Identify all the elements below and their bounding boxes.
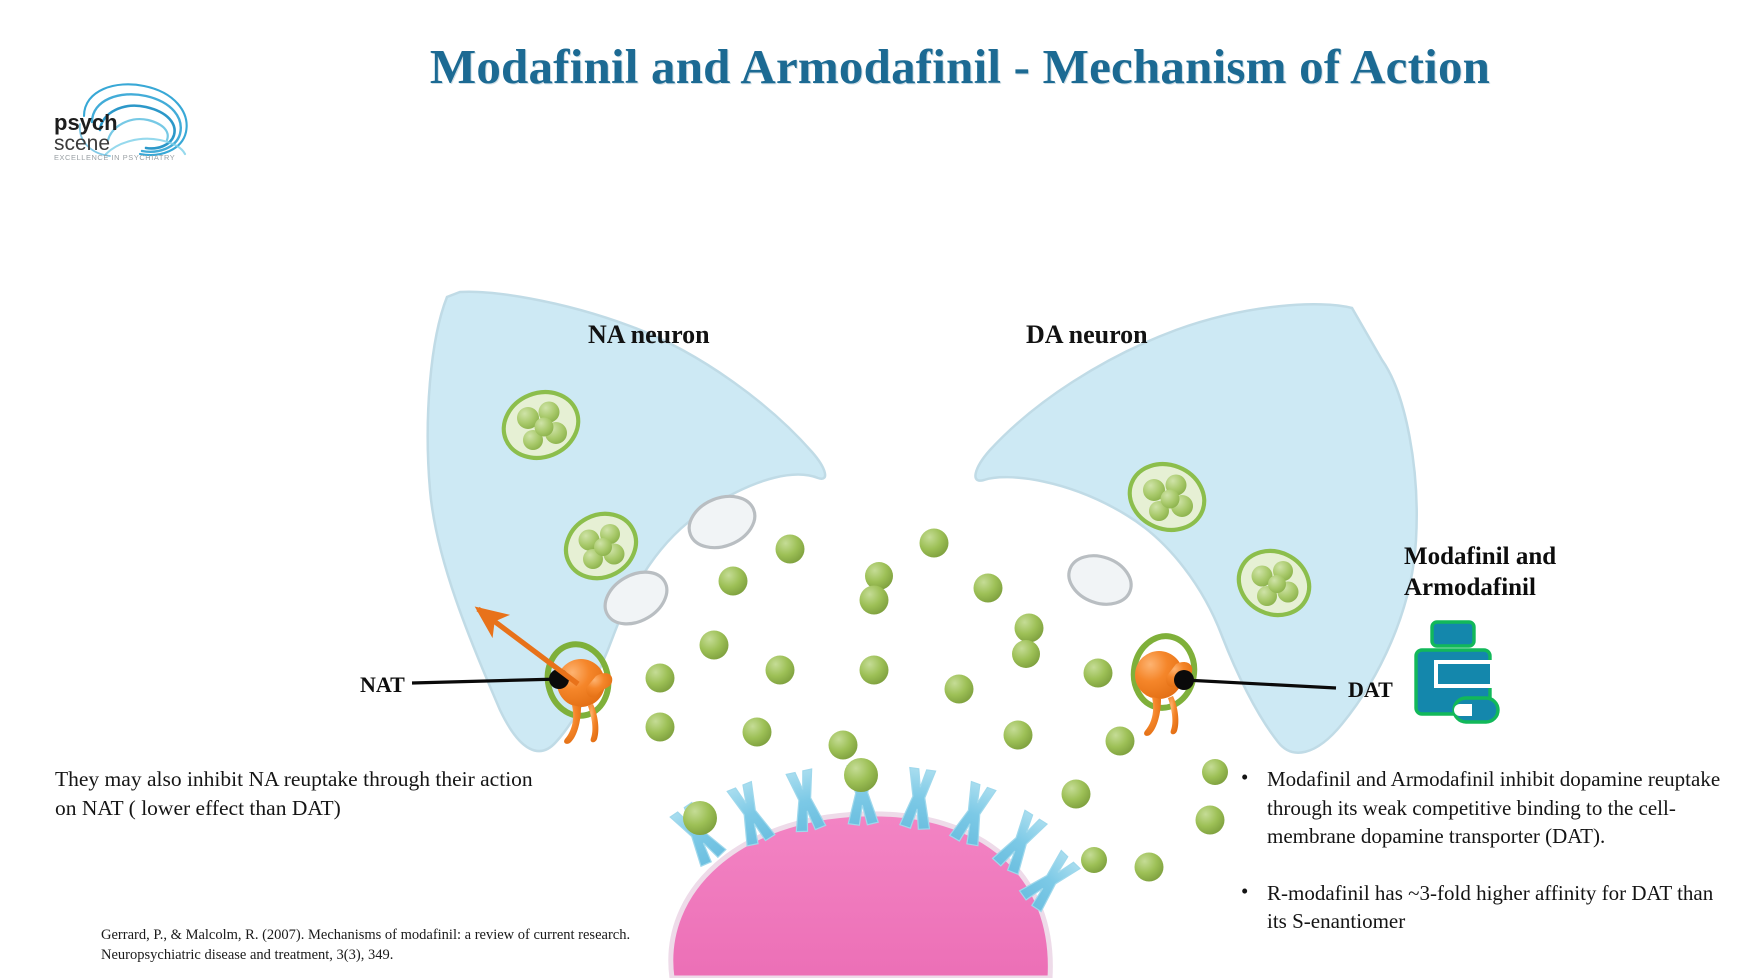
postsynaptic-cell: [669, 758, 1082, 978]
drug-heading-line2: Armodafinil: [1404, 573, 1664, 604]
bullet-list: Modafinil and Armodafinil inhibit dopami…: [1233, 765, 1738, 964]
left-note-text: They may also inhibit NA reuptake throug…: [55, 765, 555, 823]
drug-panel-heading: Modafinil and Armodafinil: [1404, 542, 1664, 603]
neurotransmitter-molecule: [683, 801, 717, 835]
list-item: Modafinil and Armodafinil inhibit dopami…: [1233, 765, 1738, 851]
neurotransmitter-molecule: [844, 758, 878, 792]
drug-heading-line1: Modafinil and: [1404, 542, 1664, 573]
dat-transporter: [1128, 631, 1200, 736]
nat-label: NAT: [360, 672, 405, 698]
fused-vesicle: [1062, 547, 1138, 612]
citation-text: Gerrard, P., & Malcolm, R. (2007). Mecha…: [101, 926, 631, 965]
da-neuron-label: DA neuron: [1026, 320, 1148, 350]
dat-label: DAT: [1348, 677, 1393, 703]
slide-root: psych scene EXCELLENCE IN PSYCHIATRY Mod…: [0, 0, 1756, 978]
na-neuron-label: NA neuron: [588, 320, 710, 350]
list-item: R-modafinil has ~3-fold higher affinity …: [1233, 879, 1738, 936]
medicine-bottle-icon: [1392, 612, 1522, 742]
